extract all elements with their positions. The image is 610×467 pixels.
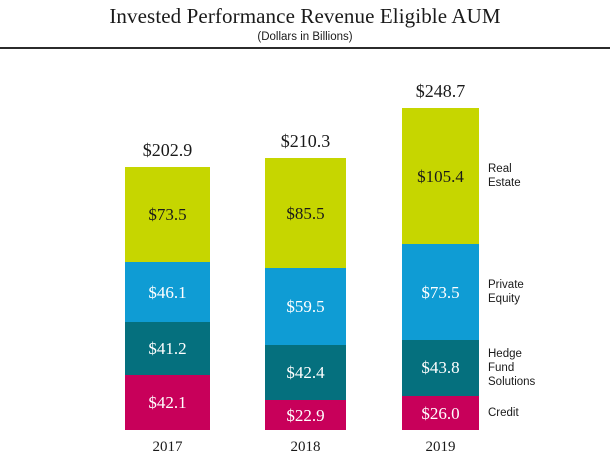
bar-group-2017[interactable]: $73.5$46.1$41.2$42.1$202.92017 bbox=[125, 49, 210, 467]
bar-total-label-2017: $202.9 bbox=[143, 140, 193, 161]
page-title: Invested Performance Revenue Eligible AU… bbox=[0, 4, 610, 29]
category-label-2017: 2017 bbox=[153, 439, 183, 456]
bar-segment-2018-real-estate[interactable]: $85.5 bbox=[265, 158, 346, 269]
bar-segment-2019-real-estate[interactable]: $105.4Real Estate bbox=[402, 108, 479, 244]
bar-group-2019[interactable]: $105.4Real Estate$73.5Private Equity$43.… bbox=[402, 49, 479, 467]
legend-label-credit: Credit bbox=[488, 406, 519, 420]
bar-group-2018[interactable]: $85.5$59.5$42.4$22.9$210.32018 bbox=[265, 49, 346, 467]
segment-value-label: $26.0 bbox=[421, 405, 459, 422]
category-label-2019: 2019 bbox=[426, 439, 456, 456]
bar-segment-2017-hedge-fund-solutions[interactable]: $41.2 bbox=[125, 322, 210, 375]
bar-segment-2018-credit[interactable]: $22.9 bbox=[265, 400, 346, 430]
legend-label-real-estate: Real Estate bbox=[488, 162, 521, 190]
plot-area: $73.5$46.1$41.2$42.1$202.92017$85.5$59.5… bbox=[0, 49, 610, 467]
legend-label-private-equity: Private Equity bbox=[488, 278, 524, 306]
bar-segment-2017-private-equity[interactable]: $46.1 bbox=[125, 262, 210, 322]
bar-total-label-2019: $248.7 bbox=[416, 81, 466, 102]
bar-segment-2017-credit[interactable]: $42.1 bbox=[125, 375, 210, 430]
bar-segment-2019-credit[interactable]: $26.0Credit bbox=[402, 396, 479, 430]
segment-value-label: $43.8 bbox=[421, 359, 459, 376]
bar-segment-2019-hedge-fund-solutions[interactable]: $43.8Hedge Fund Solutions bbox=[402, 340, 479, 397]
legend-label-hedge-fund-solutions: Hedge Fund Solutions bbox=[488, 347, 535, 389]
segment-value-label: $85.5 bbox=[286, 205, 324, 222]
chart-subtitle: (Dollars in Billions) bbox=[0, 31, 610, 43]
segment-value-label: $41.2 bbox=[148, 340, 186, 357]
stacked-bar-2017: $73.5$46.1$41.2$42.1 bbox=[125, 167, 210, 430]
stacked-bar-2018: $85.5$59.5$42.4$22.9 bbox=[265, 158, 346, 430]
segment-value-label: $105.4 bbox=[417, 168, 464, 185]
segment-value-label: $42.4 bbox=[286, 364, 324, 381]
bar-segment-2017-real-estate[interactable]: $73.5 bbox=[125, 167, 210, 262]
bar-segment-2018-hedge-fund-solutions[interactable]: $42.4 bbox=[265, 345, 346, 400]
chart-page: Invested Performance Revenue Eligible AU… bbox=[0, 0, 610, 467]
segment-value-label: $73.5 bbox=[148, 206, 186, 223]
segment-value-label: $46.1 bbox=[148, 284, 186, 301]
segment-value-label: $42.1 bbox=[148, 394, 186, 411]
bar-segment-2019-private-equity[interactable]: $73.5Private Equity bbox=[402, 244, 479, 339]
bar-segment-2018-private-equity[interactable]: $59.5 bbox=[265, 268, 346, 345]
segment-value-label: $59.5 bbox=[286, 298, 324, 315]
category-label-2018: 2018 bbox=[291, 439, 321, 456]
segment-value-label: $22.9 bbox=[286, 407, 324, 424]
bar-total-label-2018: $210.3 bbox=[281, 131, 331, 152]
segment-value-label: $73.5 bbox=[421, 284, 459, 301]
stacked-bar-2019: $105.4Real Estate$73.5Private Equity$43.… bbox=[402, 108, 479, 430]
